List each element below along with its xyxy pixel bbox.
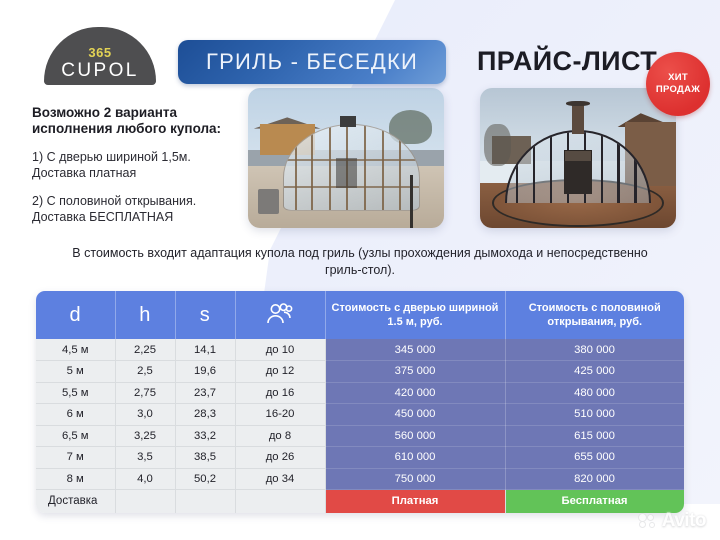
photo-2-scene bbox=[480, 88, 676, 228]
cell-capacity: 16-20 bbox=[235, 404, 325, 426]
cell-area: 19,6 bbox=[175, 361, 235, 383]
grill-gazebo-badge-label: ГРИЛЬ - БЕСЕДКИ bbox=[206, 49, 418, 75]
delivery-row: Доставка Платная Бесплатная bbox=[36, 490, 684, 513]
cell-price-with-door: 420 000 bbox=[325, 382, 505, 404]
cell-area: 50,2 bbox=[175, 468, 235, 490]
cell-price-with-door: 610 000 bbox=[325, 447, 505, 469]
cell-price-with-door: 450 000 bbox=[325, 404, 505, 426]
people-group-icon bbox=[236, 302, 325, 328]
cell-diameter: 5 м bbox=[36, 361, 115, 383]
cell-height: 2,75 bbox=[115, 382, 175, 404]
price-includes-caption: В стоимость входит адаптация купола под … bbox=[60, 245, 660, 279]
cell-area: 14,1 bbox=[175, 339, 235, 361]
table-row: 5 м 2,5 19,6 до 12 375 000 425 000 bbox=[36, 361, 684, 383]
cell-diameter: 6,5 м bbox=[36, 425, 115, 447]
page-title: ПРАЙС-ЛИСТ bbox=[477, 46, 657, 77]
cell-capacity: до 34 bbox=[235, 468, 325, 490]
cell-price-half-open: 655 000 bbox=[505, 447, 684, 469]
cell-price-half-open: 510 000 bbox=[505, 404, 684, 426]
column-header-diameter: d bbox=[36, 291, 115, 339]
cell-price-half-open: 380 000 bbox=[505, 339, 684, 361]
cell-height: 3,25 bbox=[115, 425, 175, 447]
bestseller-badge-line1: ХИТ bbox=[668, 72, 688, 84]
column-header-price-with-door: Стоимость с дверью шириной 1.5 м, руб. bbox=[325, 291, 505, 339]
logo-365-text: 365 bbox=[88, 46, 111, 59]
option-2-text: 2) С половиной открывания. Доставка БЕСП… bbox=[32, 193, 237, 225]
price-table-body: 4,5 м 2,25 14,1 до 10 345 000 380 000 5 … bbox=[36, 339, 684, 513]
cell-diameter: 6 м bbox=[36, 404, 115, 426]
cell-capacity: до 26 bbox=[235, 447, 325, 469]
bestseller-badge: ХИТ ПРОДАЖ bbox=[646, 52, 710, 116]
cell-height: 4,0 bbox=[115, 468, 175, 490]
cell-capacity: до 16 bbox=[235, 382, 325, 404]
logo-cupol-text: CUPOL bbox=[61, 61, 138, 80]
cell-price-with-door: 750 000 bbox=[325, 468, 505, 490]
delivery-status-paid: Платная bbox=[325, 490, 505, 513]
cell-diameter: 7 м bbox=[36, 447, 115, 469]
grill-gazebo-badge: ГРИЛЬ - БЕСЕДКИ bbox=[178, 40, 446, 84]
price-table-container: d h s Стоимость с дверью шириной 1. bbox=[36, 291, 684, 513]
cell-diameter: 5,5 м bbox=[36, 382, 115, 404]
cell-diameter: 4,5 м bbox=[36, 339, 115, 361]
cell-price-half-open: 425 000 bbox=[505, 361, 684, 383]
header: 365 CUPOL ГРИЛЬ - БЕСЕДКИ ПРАЙС-ЛИСТ ХИТ… bbox=[0, 0, 720, 92]
table-row: 8 м 4,0 50,2 до 34 750 000 820 000 bbox=[36, 468, 684, 490]
cell-price-with-door: 375 000 bbox=[325, 361, 505, 383]
cell-price-with-door: 560 000 bbox=[325, 425, 505, 447]
cell-price-with-door: 345 000 bbox=[325, 339, 505, 361]
price-table: d h s Стоимость с дверью шириной 1. bbox=[36, 291, 684, 513]
photo-dark-frame-dome-gazebo-with-grill bbox=[480, 88, 676, 228]
cell-capacity: до 12 bbox=[235, 361, 325, 383]
cell-area: 28,3 bbox=[175, 404, 235, 426]
cell-price-half-open: 820 000 bbox=[505, 468, 684, 490]
options-info-block: Возможно 2 варианта исполнения любого ку… bbox=[32, 105, 237, 237]
column-header-height: h bbox=[115, 291, 175, 339]
bestseller-badge-line2: ПРОДАЖ bbox=[656, 84, 700, 96]
cell-capacity: до 8 bbox=[235, 425, 325, 447]
column-header-area: s bbox=[175, 291, 235, 339]
cell-area: 23,7 bbox=[175, 382, 235, 404]
avito-watermark: Avito bbox=[638, 510, 706, 532]
delivery-label: Доставка bbox=[36, 490, 115, 513]
table-row: 5,5 м 2,75 23,7 до 16 420 000 480 000 bbox=[36, 382, 684, 404]
cell-diameter: 8 м bbox=[36, 468, 115, 490]
table-header-row: d h s Стоимость с дверью шириной 1. bbox=[36, 291, 684, 339]
column-header-price-half-open: Стоимость с половиной открывания, руб. bbox=[505, 291, 684, 339]
cell-price-half-open: 615 000 bbox=[505, 425, 684, 447]
photo-glass-dome-pavilion-winter bbox=[248, 88, 444, 228]
cell-height: 2,5 bbox=[115, 361, 175, 383]
table-row: 6,5 м 3,25 33,2 до 8 560 000 615 000 bbox=[36, 425, 684, 447]
cell-capacity: до 10 bbox=[235, 339, 325, 361]
cell-height: 3,0 bbox=[115, 404, 175, 426]
avito-watermark-text: Avito bbox=[662, 510, 706, 532]
delivery-blank-capacity bbox=[235, 490, 325, 513]
price-table-head: d h s Стоимость с дверью шириной 1. bbox=[36, 291, 684, 339]
table-row: 6 м 3,0 28,3 16-20 450 000 510 000 bbox=[36, 404, 684, 426]
cell-area: 38,5 bbox=[175, 447, 235, 469]
cell-price-half-open: 480 000 bbox=[505, 382, 684, 404]
cell-height: 2,25 bbox=[115, 339, 175, 361]
delivery-blank-area bbox=[175, 490, 235, 513]
cell-area: 33,2 bbox=[175, 425, 235, 447]
brand-logo: 365 CUPOL bbox=[44, 27, 156, 85]
photo-1-scene bbox=[248, 88, 444, 228]
table-row: 4,5 м 2,25 14,1 до 10 345 000 380 000 bbox=[36, 339, 684, 361]
delivery-blank-height bbox=[115, 490, 175, 513]
avito-logo-icon bbox=[638, 513, 658, 529]
cell-height: 3,5 bbox=[115, 447, 175, 469]
option-1-text: 1) С дверью шириной 1,5м. Доставка платн… bbox=[32, 149, 237, 181]
column-header-capacity bbox=[235, 291, 325, 339]
options-heading: Возможно 2 варианта исполнения любого ку… bbox=[32, 105, 237, 137]
table-row: 7 м 3,5 38,5 до 26 610 000 655 000 bbox=[36, 447, 684, 469]
